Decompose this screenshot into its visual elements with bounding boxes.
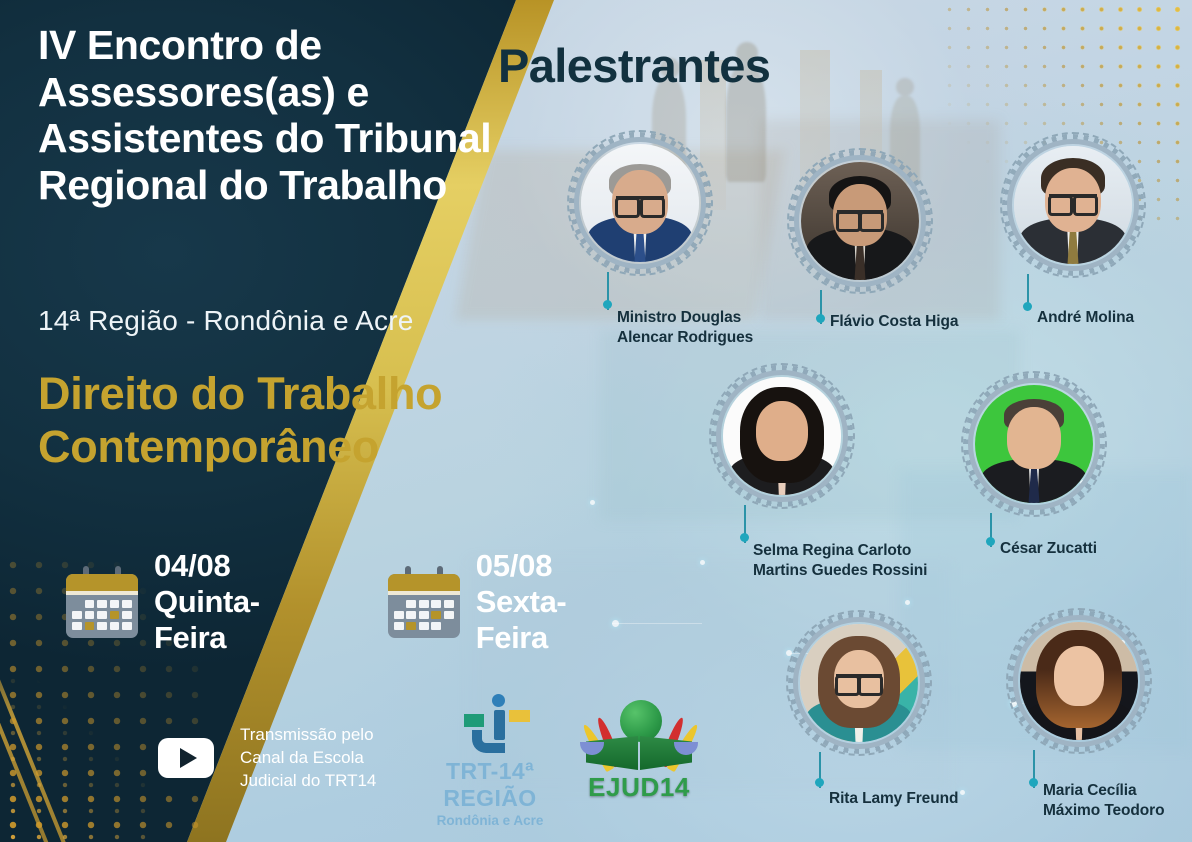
date-day: 05/08 [476,548,567,584]
speaker-name: Maria Cecília Máximo Teodoro [1043,781,1164,821]
circuit-dot [905,600,910,605]
speaker-connector-dot [815,778,824,787]
circuit-dot [960,790,965,795]
date-weekday: Quinta-Feira [154,584,260,656]
left-content: IV Encontro de Assessores(as) e Assisten… [0,0,560,842]
speaker-card[interactable] [1000,132,1146,278]
event-poster: IV Encontro de Assessores(as) e Assisten… [0,0,1192,842]
speaker-connector-dot [986,537,995,546]
calendar-icon [388,566,460,638]
circuit-dot [700,560,705,565]
speaker-card[interactable] [961,371,1107,517]
speakers-heading: Palestrantes [498,38,770,93]
speaker-name: Ministro Douglas Alencar Rodrigues [617,308,753,348]
speaker-card[interactable] [709,363,855,509]
circuit-dot [590,500,595,505]
speaker-connector-dot [1023,302,1032,311]
date-text: 05/08 Sexta-Feira [476,548,567,656]
trt-logo-name: TRT-14ª REGIÃO [400,758,580,812]
broadcast-info: Transmissão pelo Canal da Escola Judicia… [158,724,376,792]
date-day: 04/08 [154,548,260,584]
date-block: 05/08 Sexta-Feira [388,548,567,656]
youtube-play-icon[interactable] [158,738,214,778]
speaker-connector-dot [740,533,749,542]
event-title: IV Encontro de Assessores(as) e Assisten… [38,22,508,209]
speaker-connector-dot [603,300,612,309]
speaker-card[interactable] [567,130,713,276]
trt-logo-mark [454,694,526,756]
trt-logo-subtitle: Rondônia e Acre [400,813,580,828]
calendar-icon [66,566,138,638]
date-weekday: Sexta-Feira [476,584,567,656]
speaker-name: Flávio Costa Higa [830,312,958,332]
event-region: 14ª Região - Rondônia e Acre [38,305,414,337]
speaker-name: Selma Regina Carloto Martins Guedes Ross… [753,541,927,581]
ejud-logo: EJUD14 [576,698,702,803]
speaker-name: Rita Lamy Freund [829,789,958,809]
broadcast-text: Transmissão pelo Canal da Escola Judicia… [240,724,376,792]
trt-logo: TRT-14ª REGIÃO Rondônia e Acre [400,694,580,828]
event-theme: Direito do Trabalho Contemporâneo [38,368,558,473]
speaker-connector-dot [1029,778,1038,787]
speaker-card[interactable] [1006,608,1152,754]
ejud-logo-name: EJUD14 [576,772,702,803]
circuit-line [612,623,702,624]
date-block: 04/08 Quinta-Feira [66,548,260,656]
speaker-name: André Molina [1037,308,1134,328]
speaker-card[interactable] [786,610,932,756]
speaker-name: César Zucatti [1000,539,1097,559]
event-dates: 04/08 Quinta-Feira 05/08 [66,548,566,656]
speaker-card[interactable] [787,148,933,294]
speaker-connector-dot [816,314,825,323]
ejud-logo-mark [576,698,702,776]
date-text: 04/08 Quinta-Feira [154,548,260,656]
